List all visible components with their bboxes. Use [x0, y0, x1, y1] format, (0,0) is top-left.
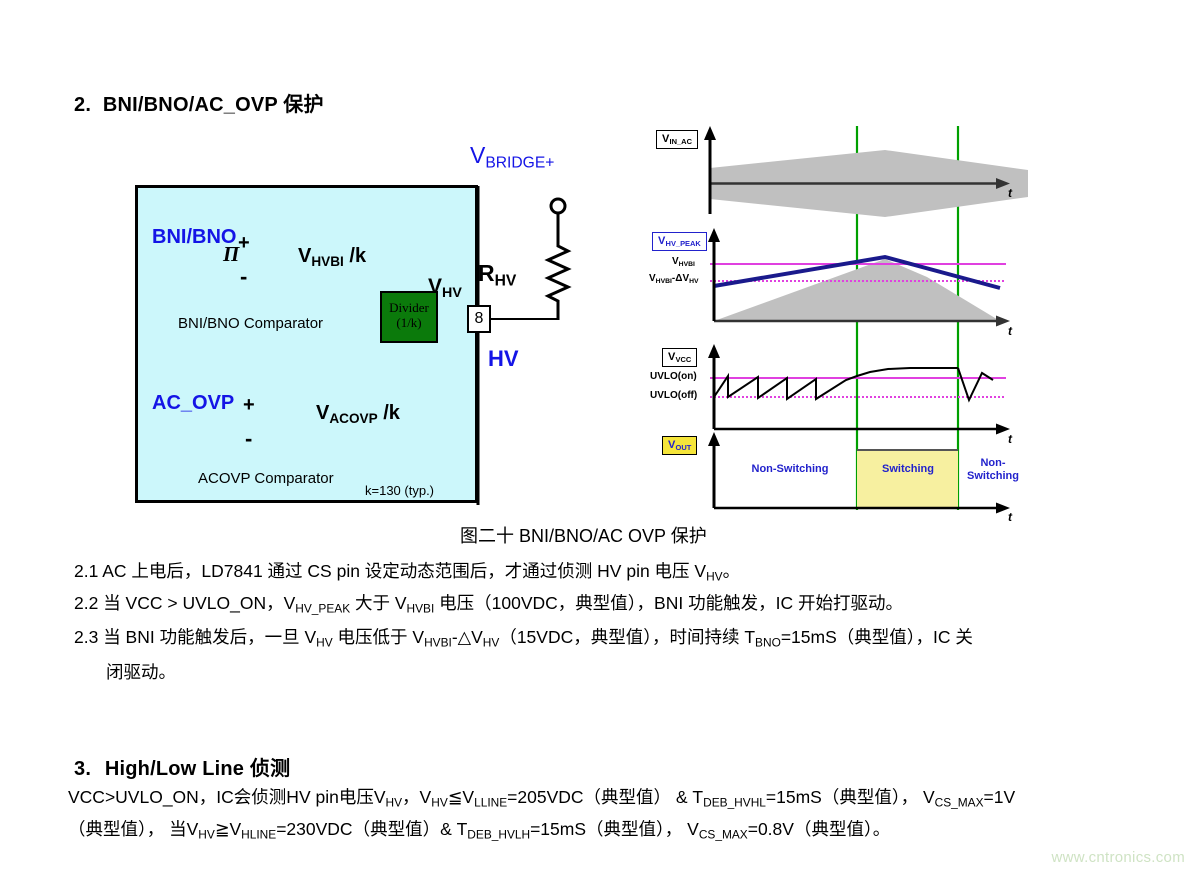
paragraph-3-line-2: （典型值）， 当VHV≧VHLINE=230VDC（典型值）& TDEB_HVL… — [68, 814, 890, 849]
bni-noninverting-sign: + — [238, 232, 250, 255]
site-watermark: www.cntronics.com — [1052, 849, 1185, 866]
vhvbi-reference-label: VHVBI /k — [298, 245, 366, 269]
rhv-resistor-label: RHV — [478, 260, 516, 290]
acovp-inverting-sign: - — [245, 426, 252, 452]
timing-diagram: VIN_AC t VHV_PEAK VHVBI VHVBI-ΔVHV t VVC… — [648, 118, 1028, 514]
hysteresis-icon: Π — [223, 242, 239, 267]
paragraph-2-1: 2.1 AC 上电后，LD7841 通过 CS pin 设定动态范围后，才通过侦… — [74, 556, 740, 591]
divider-block: Divider (1/k) — [380, 291, 438, 343]
vacovp-reference-label: VACOVP /k — [316, 402, 400, 426]
paragraph-2-2: 2.2 当 VCC > UVLO_ON，VHV_PEAK 大于 VHVBI 电压… — [74, 588, 903, 623]
paragraph-2-3: 2.3 当 BNI 功能触发后，一旦 VHV 电压低于 VHVBI-△VHV（1… — [74, 622, 1142, 687]
region-label-non-switching-2: Non- Switching — [960, 457, 1026, 483]
circuit-diagram: BNI/BNO AC_OVP VBRIDGE+ RHV VHV HV VHVBI… — [130, 150, 590, 520]
section-2-title: BNI/BNO/AC_OVP 保护 — [103, 94, 324, 116]
section-3-heading: 3. High/Low Line 侦测 — [74, 752, 290, 781]
acovp-comparator-name: ACOVP Comparator — [198, 470, 334, 487]
chip-vvcc: VVCC — [662, 348, 697, 367]
section-2-number: 2. — [74, 94, 91, 116]
divider-ratio: (1/k) — [382, 315, 436, 330]
acovp-noninverting-sign: + — [243, 394, 255, 417]
chip-vout: VOUT — [662, 436, 697, 455]
pin-8-box: 8 — [467, 305, 491, 333]
threshold-label-uvlo-off: UVLO(off) — [650, 390, 697, 401]
timing-svg — [648, 118, 1028, 514]
bni-inverting-sign: - — [240, 264, 247, 290]
hv-pin-label: HV — [488, 346, 519, 372]
chip-vhv-peak: VHV_PEAK — [652, 232, 707, 251]
section-3-number: 3. — [74, 758, 91, 780]
section-2-heading: 2. BNI/BNO/AC_OVP 保护 — [74, 88, 324, 117]
section-3-title: High/Low Line 侦测 — [105, 758, 290, 780]
axis-label-t-1: t — [1008, 186, 1012, 200]
document-page: 2. BNI/BNO/AC_OVP 保护 — [0, 0, 1201, 872]
threshold-label-vhvbi-delta: VHVBI-ΔVHV — [649, 273, 699, 285]
vbridge-label: VBRIDGE+ — [470, 142, 554, 172]
bni-comparator-name: BNI/BNO Comparator — [178, 315, 323, 332]
divider-title: Divider — [382, 300, 436, 315]
ac-ovp-signal-label: AC_OVP — [152, 392, 234, 415]
region-label-switching: Switching — [870, 463, 946, 476]
paragraph-3-line-1: VCC>UVLO_ON，IC会侦测HV pin电压VHV，VHV≦VLLINE=… — [68, 782, 1015, 817]
chip-vin-ac: VIN_AC — [656, 130, 698, 149]
region-label-non-switching-1: Non-Switching — [740, 463, 840, 476]
axis-label-t-4: t — [1008, 510, 1012, 524]
threshold-label-vhvbi: VHVBI — [672, 256, 695, 268]
figure-caption: 图二十 BNI/BNO/AC OVP 保护 — [460, 522, 707, 548]
axis-label-t-3: t — [1008, 432, 1012, 446]
axis-label-t-2: t — [1008, 324, 1012, 338]
threshold-label-uvlo-on: UVLO(on) — [650, 371, 697, 382]
k-value-note: k=130 (typ.) — [365, 483, 434, 498]
